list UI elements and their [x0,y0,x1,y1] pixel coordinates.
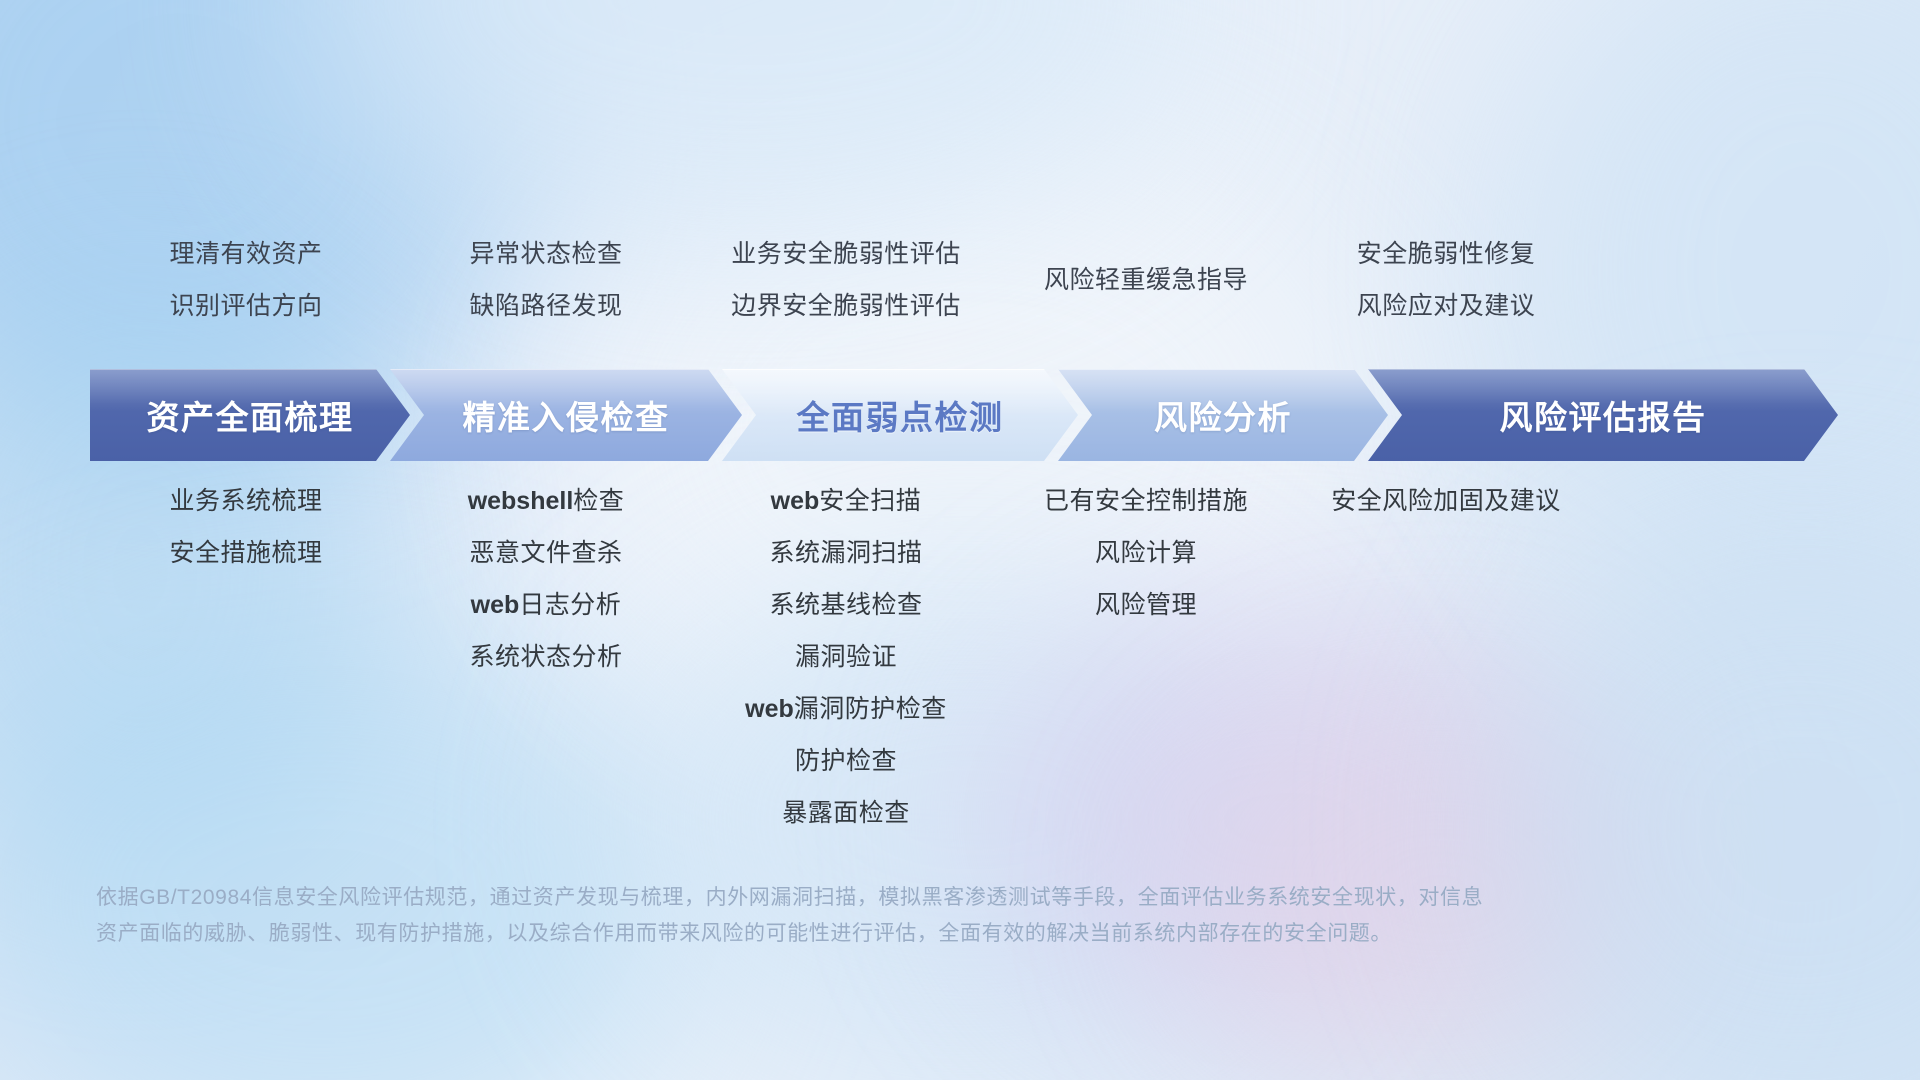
bottom-label-item: 风险计算 [996,527,1296,579]
bottom-label-item: 恶意文件查杀 [396,527,696,579]
footer-description: 依据GB/T20984信息安全风险评估规范，通过资产发现与梳理，内外网漏洞扫描，… [96,880,1776,952]
bottom-labels-row: 业务系统梳理 安全措施梳理 webshell检查 恶意文件查杀 web日志分析 … [96,475,1856,839]
process-arrow-band: 资产全面梳理 精准入侵检查 全面弱点检测 风险分析 风险评估报告 [90,369,1838,461]
stage-arrow-label: 风险评估报告 [1500,391,1707,439]
bottom-label-item: 安全风险加固及建议 [1296,475,1596,527]
bottom-label-item: web日志分析 [396,579,696,631]
bottom-label-item: 系统状态分析 [396,631,696,683]
stage-arrow-asset-inventory[interactable]: 资产全面梳理 [90,369,410,461]
stage-arrow-label: 资产全面梳理 [147,391,354,439]
top-labels-row: 理清有效资产 识别评估方向 异常状态检查 缺陷路径发现 业务安全脆弱性评估 边界… [96,228,1856,332]
bottom-labels-intrusion-check: webshell检查 恶意文件查杀 web日志分析 系统状态分析 [396,475,696,839]
stage-arrow-intrusion-check[interactable]: 精准入侵检查 [390,369,742,461]
bottom-labels-weakness-detection: web安全扫描 系统漏洞扫描 系统基线检查 漏洞验证 web漏洞防护检查 防护检… [696,475,996,839]
bottom-label-item: 漏洞验证 [696,631,996,683]
top-label-item: 缺陷路径发现 [396,280,696,332]
top-label-item: 风险轻重缓急指导 [996,228,1296,332]
top-label-item: 业务安全脆弱性评估 [696,228,996,280]
footer-line-2: 资产面临的威胁、脆弱性、现有防护措施，以及综合作用而带来风险的可能性进行评估，全… [96,916,1776,952]
top-labels-intrusion-check: 异常状态检查 缺陷路径发现 [396,228,696,332]
top-label-item: 风险应对及建议 [1296,280,1596,332]
top-labels-risk-report: 安全脆弱性修复 风险应对及建议 [1296,228,1596,332]
stage-arrow-label: 全面弱点检测 [797,391,1004,439]
stage-arrow-risk-analysis[interactable]: 风险分析 [1058,369,1388,461]
stage-arrow-label: 精准入侵检查 [463,391,670,439]
top-labels-risk-analysis: 风险轻重缓急指导 [996,228,1296,332]
stage-arrow-label: 风险分析 [1154,391,1292,439]
stage-arrow-weakness-detection[interactable]: 全面弱点检测 [722,369,1078,461]
bottom-label-item: 安全措施梳理 [96,527,396,579]
bottom-labels-risk-analysis: 已有安全控制措施 风险计算 风险管理 [996,475,1296,839]
bottom-label-item: 系统漏洞扫描 [696,527,996,579]
bottom-label-item: 业务系统梳理 [96,475,396,527]
top-label-item: 理清有效资产 [96,228,396,280]
bottom-label-item: 已有安全控制措施 [996,475,1296,527]
footer-line-1: 依据GB/T20984信息安全风险评估规范，通过资产发现与梳理，内外网漏洞扫描，… [96,880,1776,916]
bottom-label-item: 系统基线检查 [696,579,996,631]
bottom-label-item: 风险管理 [996,579,1296,631]
infographic-content: 理清有效资产 识别评估方向 异常状态检查 缺陷路径发现 业务安全脆弱性评估 边界… [0,0,1920,1080]
top-label-item: 安全脆弱性修复 [1296,228,1596,280]
top-labels-weakness-detection: 业务安全脆弱性评估 边界安全脆弱性评估 [696,228,996,332]
bottom-labels-risk-report: 安全风险加固及建议 [1296,475,1596,839]
top-label-item: 边界安全脆弱性评估 [696,280,996,332]
stage-arrow-risk-report[interactable]: 风险评估报告 [1368,369,1838,461]
bottom-label-item: web安全扫描 [696,475,996,527]
bottom-label-item: 暴露面检查 [696,787,996,839]
bottom-labels-asset-inventory: 业务系统梳理 安全措施梳理 [96,475,396,839]
top-label-item: 异常状态检查 [396,228,696,280]
top-labels-asset-inventory: 理清有效资产 识别评估方向 [96,228,396,332]
bottom-label-item: web漏洞防护检查 [696,683,996,735]
bottom-label-item: webshell检查 [396,475,696,527]
top-label-item: 识别评估方向 [96,280,396,332]
bottom-label-item: 防护检查 [696,735,996,787]
